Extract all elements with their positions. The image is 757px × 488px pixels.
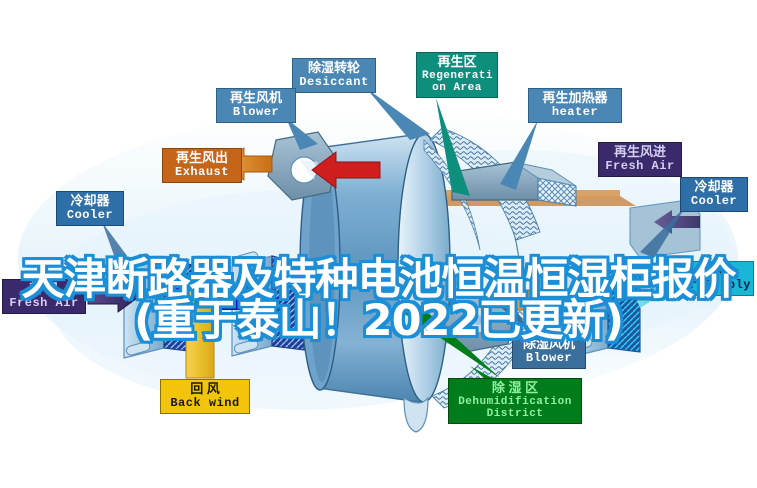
callout-regeneration-blower: 再生风机 Blower — [216, 88, 296, 123]
callout-dehumidify-blower-cn: 除湿风机 — [518, 337, 580, 352]
callout-cooler-left: 冷却器 Cooler — [56, 191, 124, 226]
callout-cooler-left-cn: 冷却器 — [62, 194, 118, 209]
callout-desiccant-wheel-cn: 除湿转轮 — [298, 61, 370, 76]
callout-air-supply-cn: 送 风 — [674, 264, 748, 279]
callout-regeneration-exhaust: 再生风出 Exhaust — [162, 148, 242, 183]
callout-regeneration-area-en: Regenerati on Area — [422, 70, 492, 95]
callout-back-wind-cn: 回 风 — [166, 382, 244, 397]
callout-dehumidify-blower: 除湿风机 Blower — [512, 334, 586, 369]
callout-air-supply: 送 风 Air Supply — [668, 261, 754, 296]
callout-desiccant-wheel: 除湿转轮 Desiccant — [292, 58, 376, 93]
callout-desiccant-wheel-en: Desiccant — [298, 76, 370, 89]
callout-cooler-right-cn: 冷却器 — [686, 180, 742, 195]
diagram-canvas: xt — [0, 0, 757, 488]
callout-cooler-right-en: Cooler — [686, 195, 742, 208]
callout-regeneration-heater-en: heater — [534, 106, 616, 119]
callout-cooler-right: 冷却器 Cooler — [680, 177, 748, 212]
callout-fresh-air-inlet-en: Fresh Air — [8, 297, 80, 310]
callout-regeneration-inlet: 再生风进 Fresh Air — [598, 142, 682, 177]
callout-regeneration-blower-en: Blower — [222, 106, 290, 119]
callout-regeneration-area: 再生区 Regenerati on Area — [416, 52, 498, 98]
callout-fresh-air-inlet: 新 风 Fresh Air — [2, 279, 86, 314]
callout-regeneration-inlet-cn: 再生风进 — [604, 145, 676, 160]
callout-back-wind-en: Back wind — [166, 397, 244, 410]
callout-dehumidification-district-cn: 除 湿 区 — [454, 381, 576, 396]
callout-back-wind: 回 风 Back wind — [160, 379, 250, 414]
callout-regeneration-heater-cn: 再生加热器 — [534, 91, 616, 106]
wheel-scoop — [404, 398, 428, 432]
callout-regeneration-inlet-en: Fresh Air — [604, 160, 676, 173]
callout-fresh-air-inlet-cn: 新 风 — [8, 282, 80, 297]
callout-regeneration-blower-cn: 再生风机 — [222, 91, 290, 106]
callout-dehumidification-district-en: Dehumidification District — [454, 396, 576, 421]
callout-air-supply-en: Air Supply — [674, 279, 748, 292]
dehumidifier-schematic: xt — [0, 0, 757, 488]
callout-cooler-left-en: Cooler — [62, 209, 118, 222]
callout-regeneration-heater: 再生加热器 heater — [528, 88, 622, 123]
callout-regeneration-area-cn: 再生区 — [422, 55, 492, 70]
callout-regeneration-exhaust-en: Exhaust — [168, 166, 236, 179]
callout-regeneration-exhaust-cn: 再生风出 — [168, 151, 236, 166]
callout-dehumidify-blower-en: Blower — [518, 352, 580, 365]
callout-dehumidification-district: 除 湿 区 Dehumidification District — [448, 378, 582, 424]
